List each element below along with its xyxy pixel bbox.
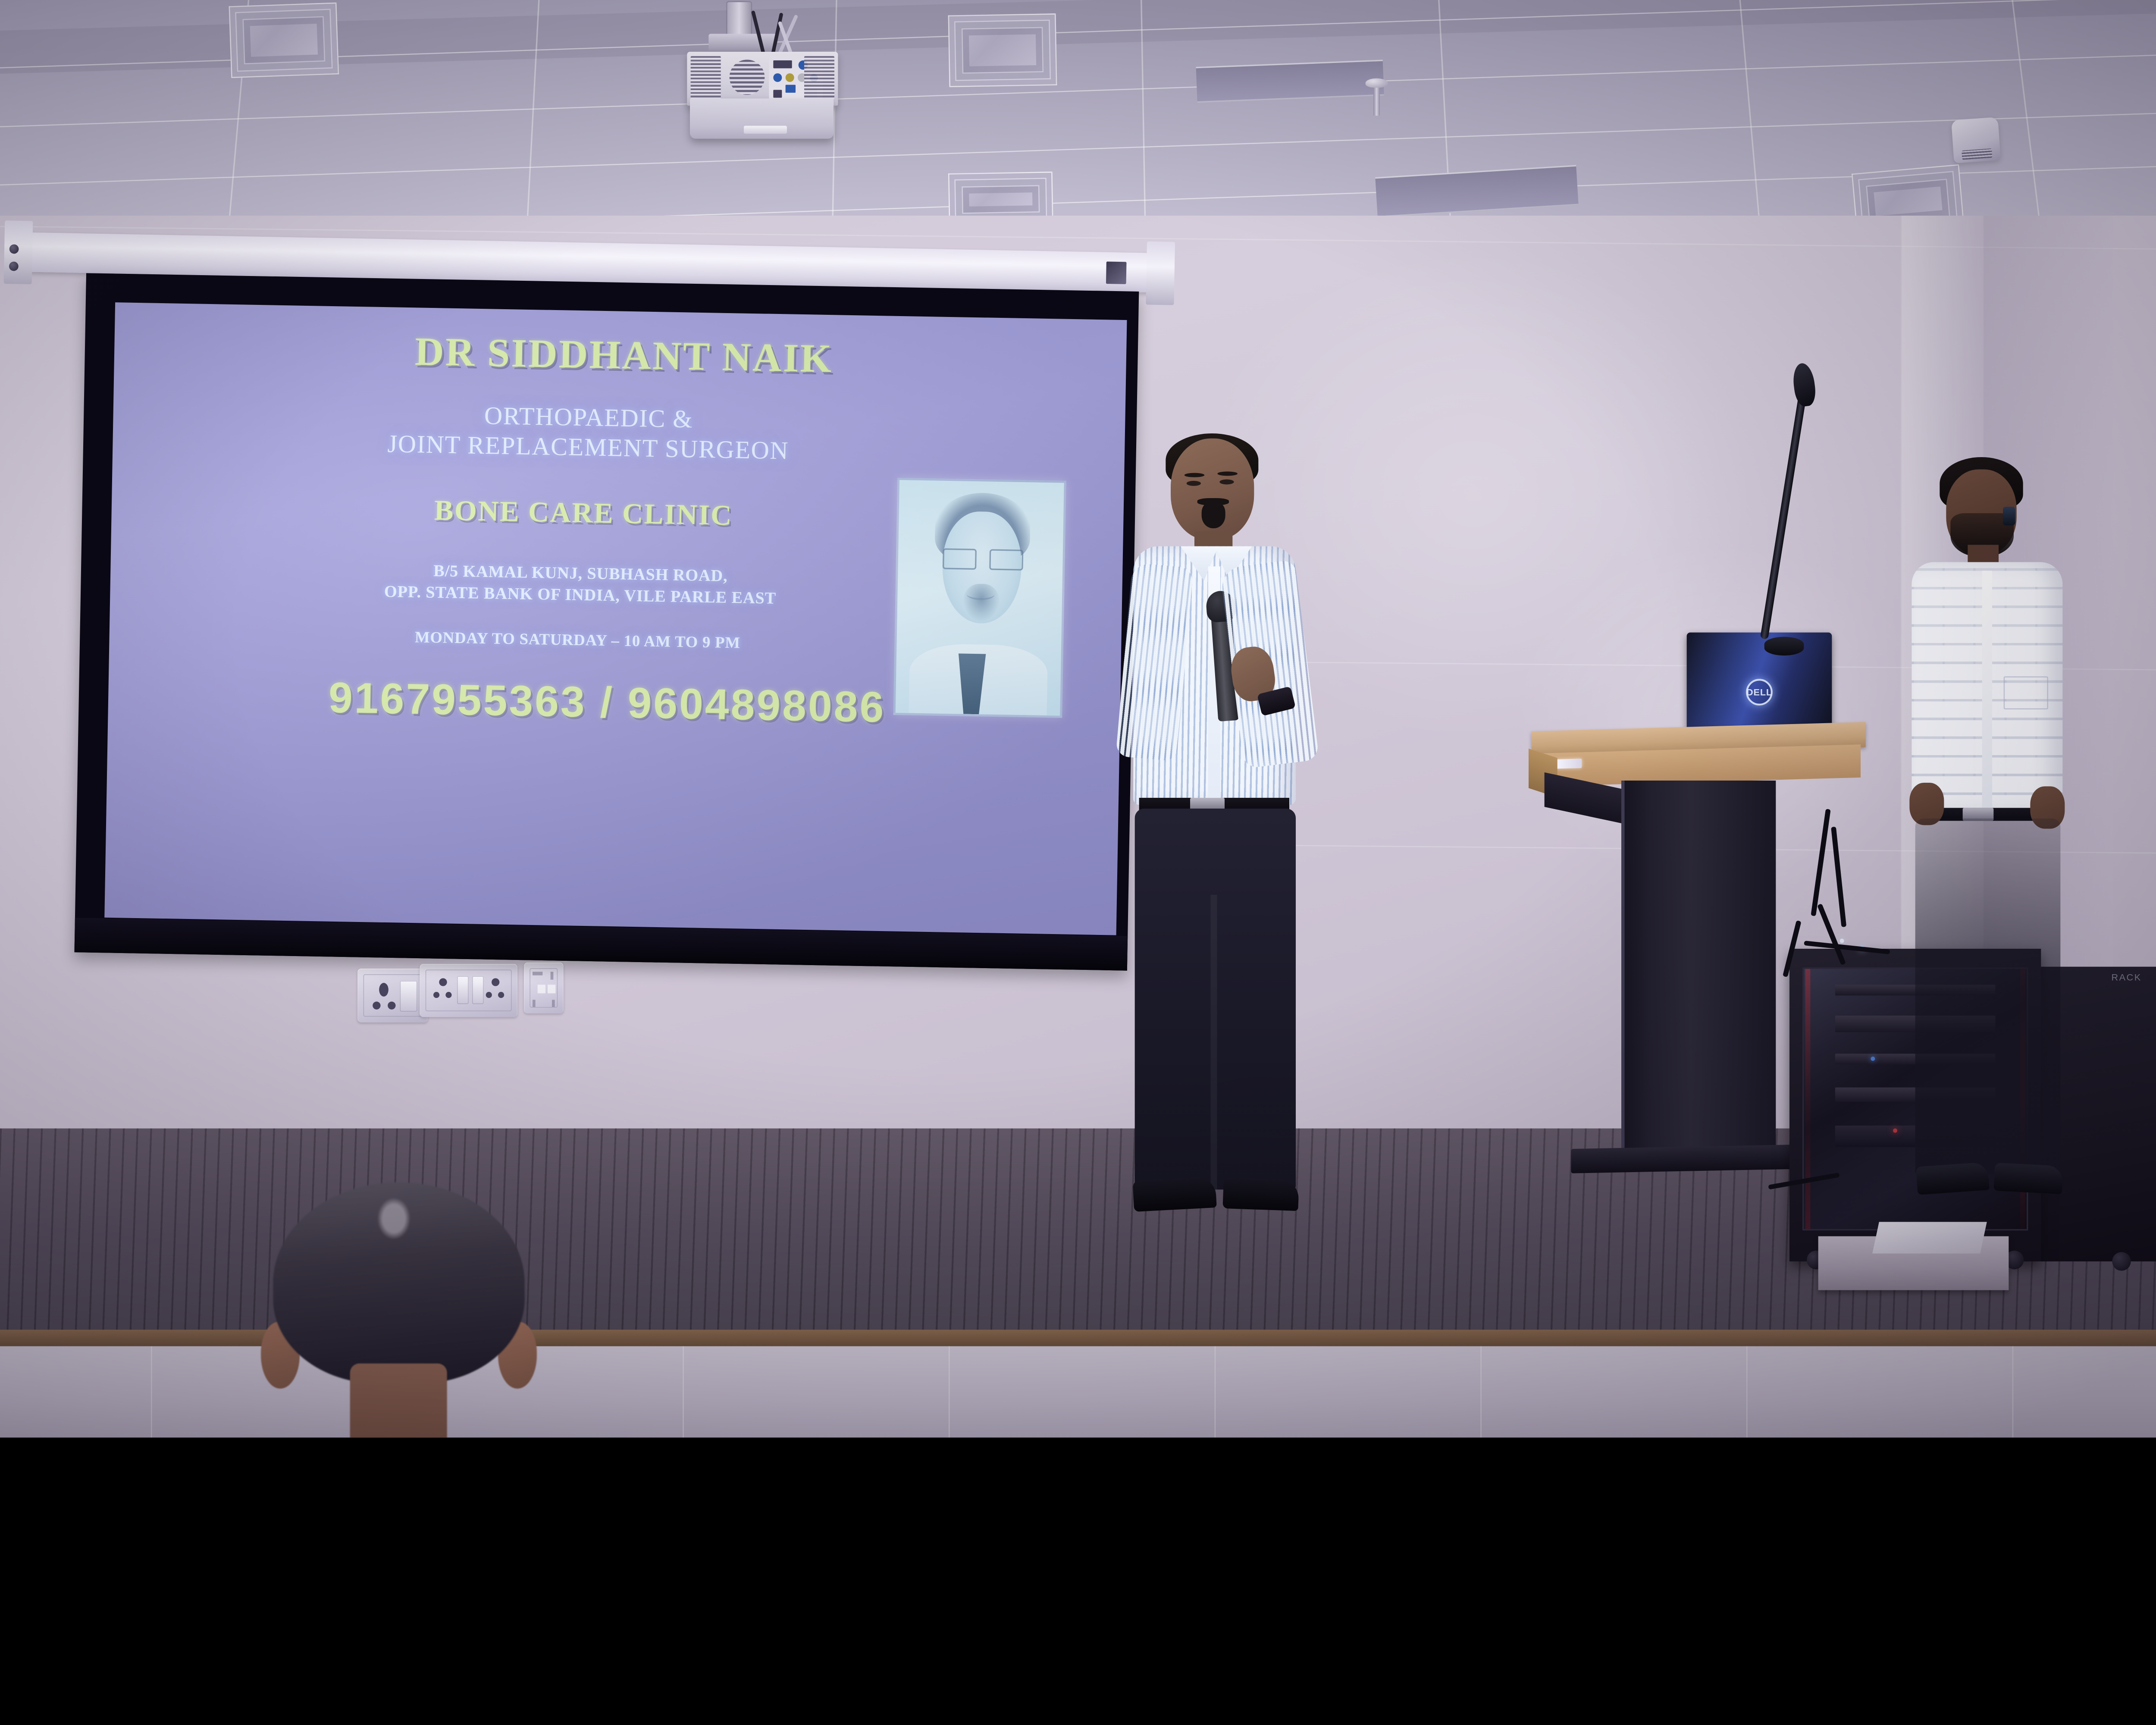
socket-switch[interactable]: [457, 976, 469, 1004]
projector-lens-housing: [690, 98, 834, 138]
audience-neck: [350, 1364, 447, 1438]
dell-laptop[interactable]: DELL: [1687, 633, 1832, 729]
slide-content: DR SIDDHANT NAIK ORTHOPAEDIC & JOINT REP…: [104, 302, 1127, 935]
slide-specialty: ORTHOPAEDIC & JOINT REPLACEMENT SURGEON: [138, 395, 1100, 471]
ceiling-projector: [687, 2, 841, 143]
ceiling-air-diffuser: [948, 13, 1057, 87]
assistant-shirt-placket: [1982, 571, 1992, 813]
wall-plate-blank: [524, 963, 564, 1013]
fire-sprinkler-icon: [1373, 83, 1380, 116]
presenter-shoe: [1133, 1176, 1217, 1212]
slide-doctor-photo: [893, 478, 1066, 718]
dell-logo-icon: DELL: [1746, 679, 1773, 706]
presenter-eye: [1187, 481, 1201, 486]
screen-bracket-left: [4, 220, 33, 284]
linear-air-grille: [1375, 165, 1578, 218]
assistant-shoe: [1993, 1163, 2063, 1194]
projector-body: [687, 52, 838, 106]
photo-glasses-icon: [943, 548, 1024, 571]
presenter-goatee: [1202, 502, 1225, 528]
slide-doctor-name: DR SIDDHANT NAIK: [139, 324, 1102, 387]
projector-lens: [744, 126, 787, 134]
presenter-trousers: [1135, 809, 1296, 1189]
earbud-icon: [2003, 507, 2015, 525]
rack-top-led: [1840, 939, 1844, 943]
audience-member-head: [273, 1182, 524, 1438]
projector-mount-arm: [708, 34, 777, 53]
rack-status-led: [1893, 1129, 1897, 1133]
suspended-ceiling: [0, 0, 2156, 230]
wall-socket-plate-single[interactable]: [357, 969, 428, 1022]
projection-screen[interactable]: DR SIDDHANT NAIK ORTHOPAEDIC & JOINT REP…: [75, 273, 1139, 970]
socket-switch[interactable]: [400, 981, 417, 1012]
podium-column-edge: [1621, 781, 1625, 1154]
projected-slide-surface: DR SIDDHANT NAIK ORTHOPAEDIC & JOINT REP…: [104, 302, 1127, 935]
projector-vent-left: [691, 56, 721, 99]
presenter-eyebrow: [1217, 471, 1238, 476]
floor-cover-plate: [1872, 1222, 1987, 1253]
projector-vent-right: [804, 56, 834, 99]
assistant-shirt-pocket: [2004, 676, 2048, 709]
ceiling-air-diffuser: [229, 3, 339, 78]
projector-fan-grille: [730, 60, 765, 95]
screen-brand-logo: [1106, 261, 1127, 284]
assistant: [1912, 463, 2066, 1203]
assistant-shoe: [1916, 1162, 1990, 1195]
screen-bracket-right: [1146, 241, 1175, 305]
rack-status-led: [1871, 1057, 1875, 1061]
presenter-eye: [1219, 480, 1234, 485]
conference-hall-scene: DR SIDDHANT NAIK ORTHOPAEDIC & JOINT REP…: [0, 0, 2156, 1437]
presenter-eyebrow: [1185, 473, 1205, 477]
podium-column: [1621, 781, 1776, 1154]
assistant-trousers: [1915, 819, 2061, 1174]
presenter-shoe: [1222, 1177, 1299, 1211]
podium-label: [1555, 759, 1582, 768]
presenter: [1127, 439, 1307, 1215]
rack-brand-label: RACK: [2111, 972, 2141, 983]
linear-air-grille: [1196, 60, 1384, 103]
audience-hair: [273, 1182, 524, 1384]
microphone-base: [1764, 637, 1804, 655]
wall-socket-plate-double[interactable]: [420, 964, 517, 1017]
socket-switch[interactable]: [472, 976, 484, 1004]
smoke-detector-icon: [1951, 117, 2001, 163]
